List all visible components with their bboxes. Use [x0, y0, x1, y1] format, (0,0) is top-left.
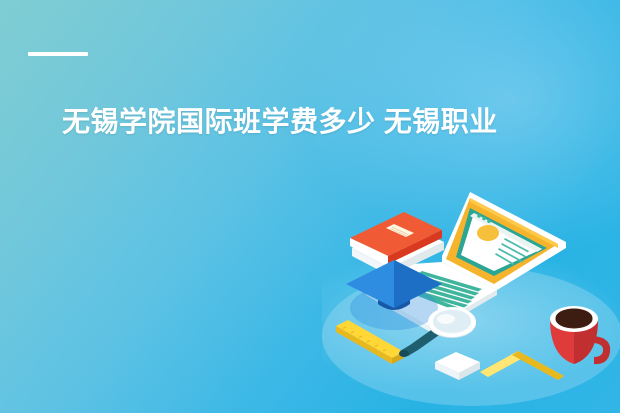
browser-dot-3: [487, 219, 491, 223]
browser-dot-2: [482, 217, 486, 221]
browser-avatar: [477, 225, 499, 241]
education-illustration: [322, 186, 620, 413]
accent-rule: [28, 52, 88, 56]
banner: 无锡学院国际班学费多少 无锡职业: [0, 0, 620, 413]
page-title: 无锡学院国际班学费多少 无锡职业: [62, 103, 620, 141]
browser-dot-1: [477, 214, 481, 218]
